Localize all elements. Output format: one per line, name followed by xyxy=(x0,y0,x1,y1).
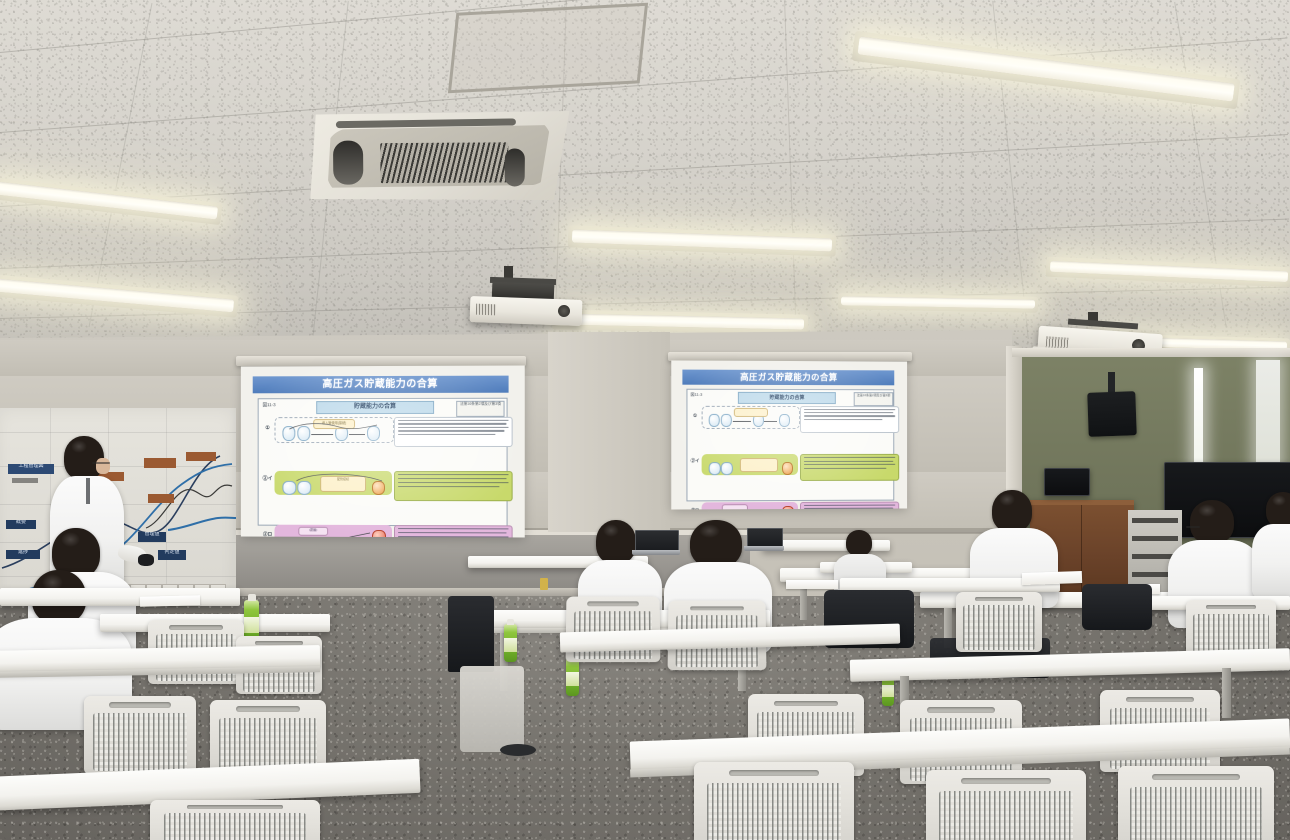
wall-chart-label: 概要 xyxy=(6,520,36,529)
papers xyxy=(140,595,200,607)
slide-row: ②イ 配管接続 貯槽又は容器いずれかが貯蔵設備が配管接続の場合より、その距離に xyxy=(261,470,505,496)
wall-chart-label xyxy=(148,494,174,503)
slide-row: ① 導入管使用(接続) xyxy=(261,416,505,442)
slide-figure-no: 図11-3 xyxy=(263,402,276,408)
wall-chart-label xyxy=(186,452,216,461)
wall-chart-label: 進捗 xyxy=(6,550,40,559)
projection-screen-right: 高圧ガス貯蔵能力の合算 図11-3 貯蔵能力の合算 法第16条第2項及び第3項 … xyxy=(671,360,907,509)
laptop xyxy=(632,530,680,556)
chair[interactable] xyxy=(566,596,660,662)
slide-row-label: ① xyxy=(262,425,274,431)
lanyard xyxy=(86,478,90,504)
chair[interactable] xyxy=(956,592,1042,652)
slide-corner-note: 法第16条第2項及び第3項 xyxy=(854,392,894,406)
wall-chart-label: 管理値 xyxy=(138,532,166,542)
slide-corner-note: 法第16条第2項及び第3項 xyxy=(456,401,504,417)
ac-grille xyxy=(380,142,508,183)
chair[interactable] xyxy=(926,770,1086,840)
projection-screen-left: 高圧ガス貯蔵能力の合算 図11-3 貯蔵能力の合算 法第16条第2項及び第3項 … xyxy=(241,366,525,538)
chair[interactable] xyxy=(694,762,854,840)
ac-louver xyxy=(333,140,363,184)
chair[interactable] xyxy=(150,800,320,840)
wall-marker xyxy=(540,578,548,590)
laptop xyxy=(744,528,784,552)
ceiling-mounted-speaker xyxy=(1087,391,1137,437)
jacket-on-chair xyxy=(1082,584,1152,630)
chair-side[interactable] xyxy=(460,666,524,752)
slide-body: 図11-3 貯蔵能力の合算 法第16条第2項及び第3項 ① xyxy=(686,389,894,502)
classroom-photo-scene: 工程管理図 概要 進捗 管理値 判定値 高圧ガス貯蔵能力の合算 図11-3 貯蔵… xyxy=(0,0,1290,840)
ceiling xyxy=(0,0,1290,372)
slide-row-label: ②ロ(i) xyxy=(689,508,700,509)
papers xyxy=(1022,571,1082,585)
slide-title: 高圧ガス貯蔵能力の合算 xyxy=(253,376,509,394)
slide-right: 高圧ガス貯蔵能力の合算 図11-3 貯蔵能力の合算 法第16条第2項及び第3項 … xyxy=(671,360,907,509)
wall-chart-label: 判定値 xyxy=(158,550,186,560)
table xyxy=(0,588,240,606)
papers xyxy=(786,580,838,589)
slide-row: ②イ xyxy=(689,453,891,476)
ceiling-projector-left xyxy=(462,266,590,332)
slide-row-label: ① xyxy=(689,413,700,419)
drink-bottle xyxy=(504,624,517,662)
screen-case-left xyxy=(236,356,526,366)
slide-row: ① xyxy=(689,405,891,428)
ceiling-access-hatch xyxy=(448,3,648,94)
glasses-icon xyxy=(92,462,110,464)
drink-bottle xyxy=(566,658,579,696)
face xyxy=(96,458,110,474)
slide-row-label: ②イ xyxy=(262,477,274,482)
wall-top-trim xyxy=(1012,348,1290,357)
glasses-icon xyxy=(1186,526,1200,528)
chair[interactable] xyxy=(84,696,196,774)
slide-subtitle: 貯蔵能力の合算 xyxy=(738,392,836,404)
small-monitor xyxy=(1044,468,1090,496)
slide-left: 高圧ガス貯蔵能力の合算 図11-3 貯蔵能力の合算 法第16条第2項及び第3項 … xyxy=(241,366,525,538)
slide-figure-no: 図11-3 xyxy=(690,392,702,398)
wall-chart-label: 工程管理図 xyxy=(8,464,54,474)
ceiling-air-conditioner xyxy=(305,99,575,215)
slide-subtitle: 貯蔵能力の合算 xyxy=(316,401,434,414)
slide-body: 図11-3 貯蔵能力の合算 法第16条第2項及び第3項 ① 導入管使用(接続) xyxy=(258,398,508,527)
slide-row-label: ②ロ(i) xyxy=(262,532,274,538)
slide-row: ②ロ(i) xyxy=(689,501,891,510)
wall-chart-label xyxy=(144,458,176,468)
slide-row-label: ②イ xyxy=(689,459,700,464)
chair[interactable] xyxy=(1118,766,1274,840)
wall-column xyxy=(548,332,670,532)
table-leg xyxy=(1222,668,1231,718)
slide-title: 高圧ガス貯蔵能力の合算 xyxy=(682,370,894,386)
chair-caster xyxy=(500,744,536,756)
speaker-stem xyxy=(1108,372,1115,394)
slide-row: ②ロ(i) (距離) xyxy=(261,524,505,538)
hand-pointer xyxy=(138,554,154,566)
jacket-on-chair xyxy=(448,596,494,672)
